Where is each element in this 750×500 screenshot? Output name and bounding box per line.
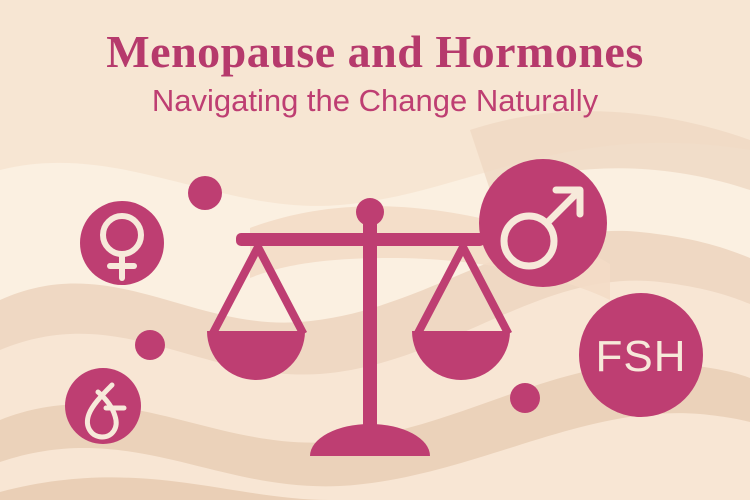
fsh-badge-label: FSH bbox=[596, 332, 687, 381]
badge-mars[interactable] bbox=[479, 159, 607, 287]
decorative-dot-top bbox=[188, 176, 222, 210]
page-subtitle: Navigating the Change Naturally bbox=[0, 82, 750, 119]
poster-canvas: Menopause and Hormones Navigating the Ch… bbox=[0, 0, 750, 500]
scale-left-strings bbox=[209, 246, 307, 336]
scale-post bbox=[363, 220, 377, 436]
badge-venus[interactable] bbox=[80, 201, 164, 285]
badge-estrogen[interactable] bbox=[65, 368, 141, 444]
header-block: Menopause and Hormones Navigating the Ch… bbox=[0, 28, 750, 119]
scale-right-pan bbox=[412, 331, 510, 380]
balance-scale-graphic bbox=[207, 198, 512, 456]
estrogen-badge-circle bbox=[65, 368, 141, 444]
badge-fsh[interactable]: FSH bbox=[579, 293, 703, 417]
decorative-dot-right bbox=[510, 383, 540, 413]
page-title: Menopause and Hormones bbox=[0, 28, 750, 76]
scale-left-pan bbox=[207, 331, 305, 380]
decorative-dot-left bbox=[135, 330, 165, 360]
scale-base bbox=[310, 424, 430, 456]
scale-beam bbox=[236, 233, 485, 246]
